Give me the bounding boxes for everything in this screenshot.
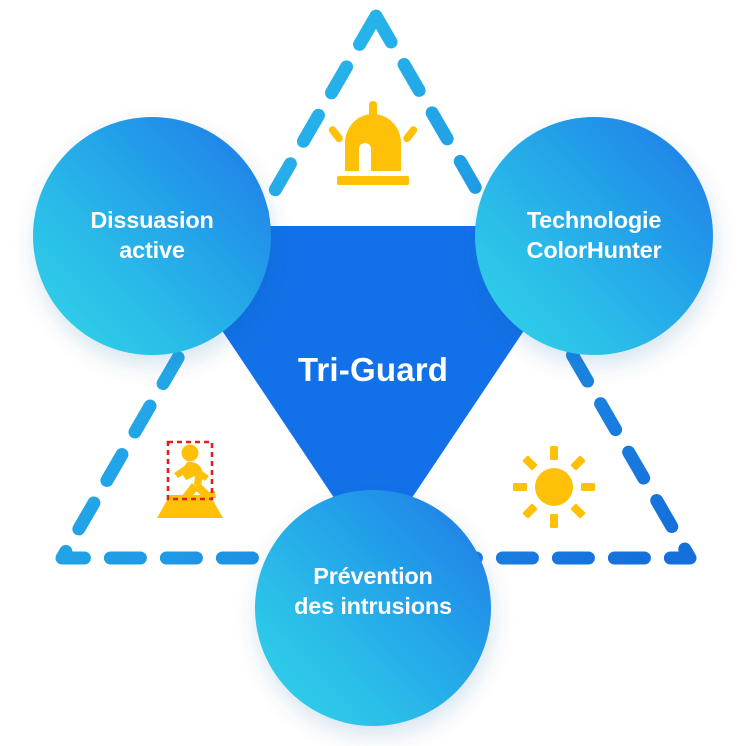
node-circle-prevention-des-intrusions[interactable] xyxy=(255,490,491,726)
diagram-canvas xyxy=(0,0,746,746)
node-circle-technologie-colorhunter[interactable] xyxy=(475,117,713,355)
node-circle-dissuasion-active[interactable] xyxy=(33,117,271,355)
alarm-siren-icon xyxy=(327,101,418,185)
intrusion-detection-icon xyxy=(157,442,223,518)
tri-guard-diagram: Dissuasion active Technologie ColorHunte… xyxy=(0,0,746,746)
sun-icon xyxy=(513,446,595,528)
